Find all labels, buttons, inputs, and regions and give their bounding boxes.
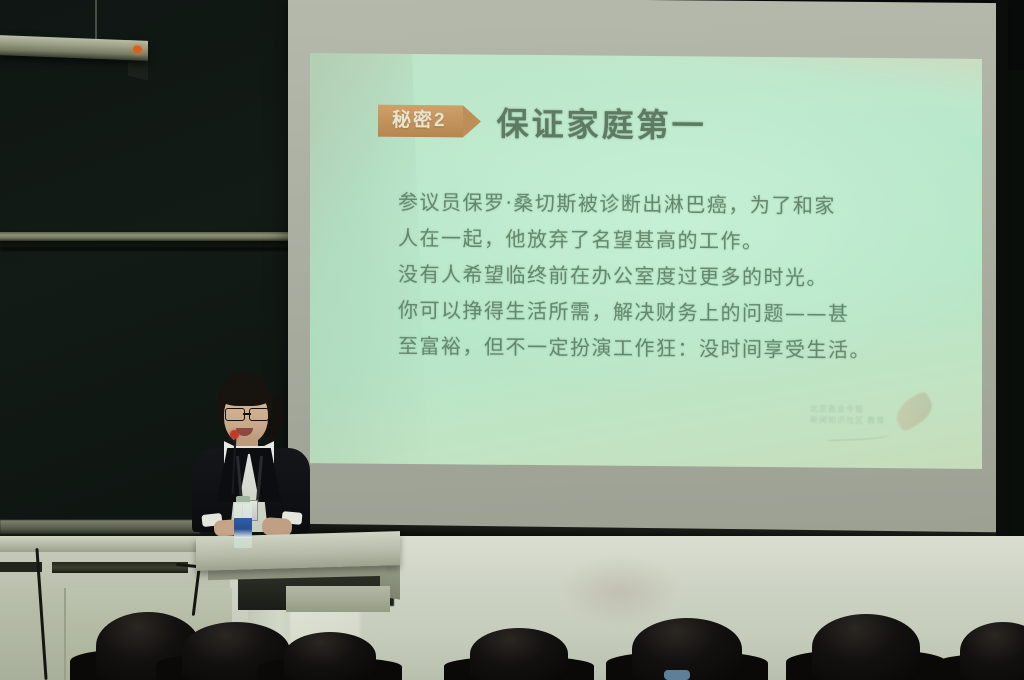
podium-base (286, 586, 390, 612)
watermark-line: 北京商业今报 (810, 403, 885, 415)
blackboard-rail-shadow (0, 247, 290, 251)
blackboard-chalk-ledge (0, 520, 200, 534)
presenter (186, 372, 318, 548)
lecture-hall-photo: 秘密2 保证家庭第一 参议员保罗·桑切斯被诊断出淋巴癌，为了和家 人在一起，他放… (0, 0, 1024, 680)
slide-body-line: 参议员保罗·桑切斯被诊断出淋巴癌，为了和家 (398, 184, 958, 225)
audience-collar (664, 670, 690, 680)
light-suspension-rod (95, 0, 97, 40)
slide-title: 保证家庭第一 (497, 99, 707, 147)
screen-right-edge (996, 0, 1008, 548)
microphone-icon (230, 430, 239, 439)
slide-body-line: 至富裕，但不一定扮演工作狂：没时间享受生活。 (398, 328, 958, 369)
glasses-icon (224, 408, 270, 419)
audience-head (284, 632, 376, 680)
slide-watermark: 北京商业今报 新闻知识社区 教育 (810, 397, 930, 446)
slide-section-tag: 秘密2 (378, 105, 463, 138)
blackboard-rail (0, 232, 288, 241)
audience-head (812, 614, 920, 680)
watermark-line: 新闻知识社区 教育 (810, 414, 885, 426)
wall-stain (560, 556, 680, 626)
projection-screen: 秘密2 保证家庭第一 参议员保罗·桑切斯被诊断出淋巴癌，为了和家 人在一起，他放… (288, 0, 1002, 548)
watermark-brush-stroke (826, 427, 890, 441)
bottle-label (234, 518, 252, 538)
feather-icon (890, 390, 938, 433)
slide-header: 秘密2 保证家庭第一 (378, 98, 707, 147)
audience-head (470, 628, 568, 680)
slide-body-text: 参议员保罗·桑切斯被诊断出淋巴癌，为了和家 人在一起，他放弃了名望甚高的工作。 … (398, 184, 958, 369)
podium-top (196, 531, 400, 571)
slide-body-line: 没有人希望临终前在办公室度过更多的时光。 (398, 256, 958, 297)
slide-body-line: 你可以挣得生活所需，解决财务上的问题——甚 (398, 292, 958, 333)
slide-body-line: 人在一起，他放弃了名望甚高的工作。 (398, 220, 958, 261)
projected-slide: 秘密2 保证家庭第一 参议员保罗·桑切斯被诊断出淋巴癌，为了和家 人在一起，他放… (310, 53, 982, 469)
watermark-text: 北京商业今报 新闻知识社区 教育 (810, 403, 885, 426)
console-port-strip (52, 562, 188, 573)
hair-fringe (219, 384, 271, 406)
